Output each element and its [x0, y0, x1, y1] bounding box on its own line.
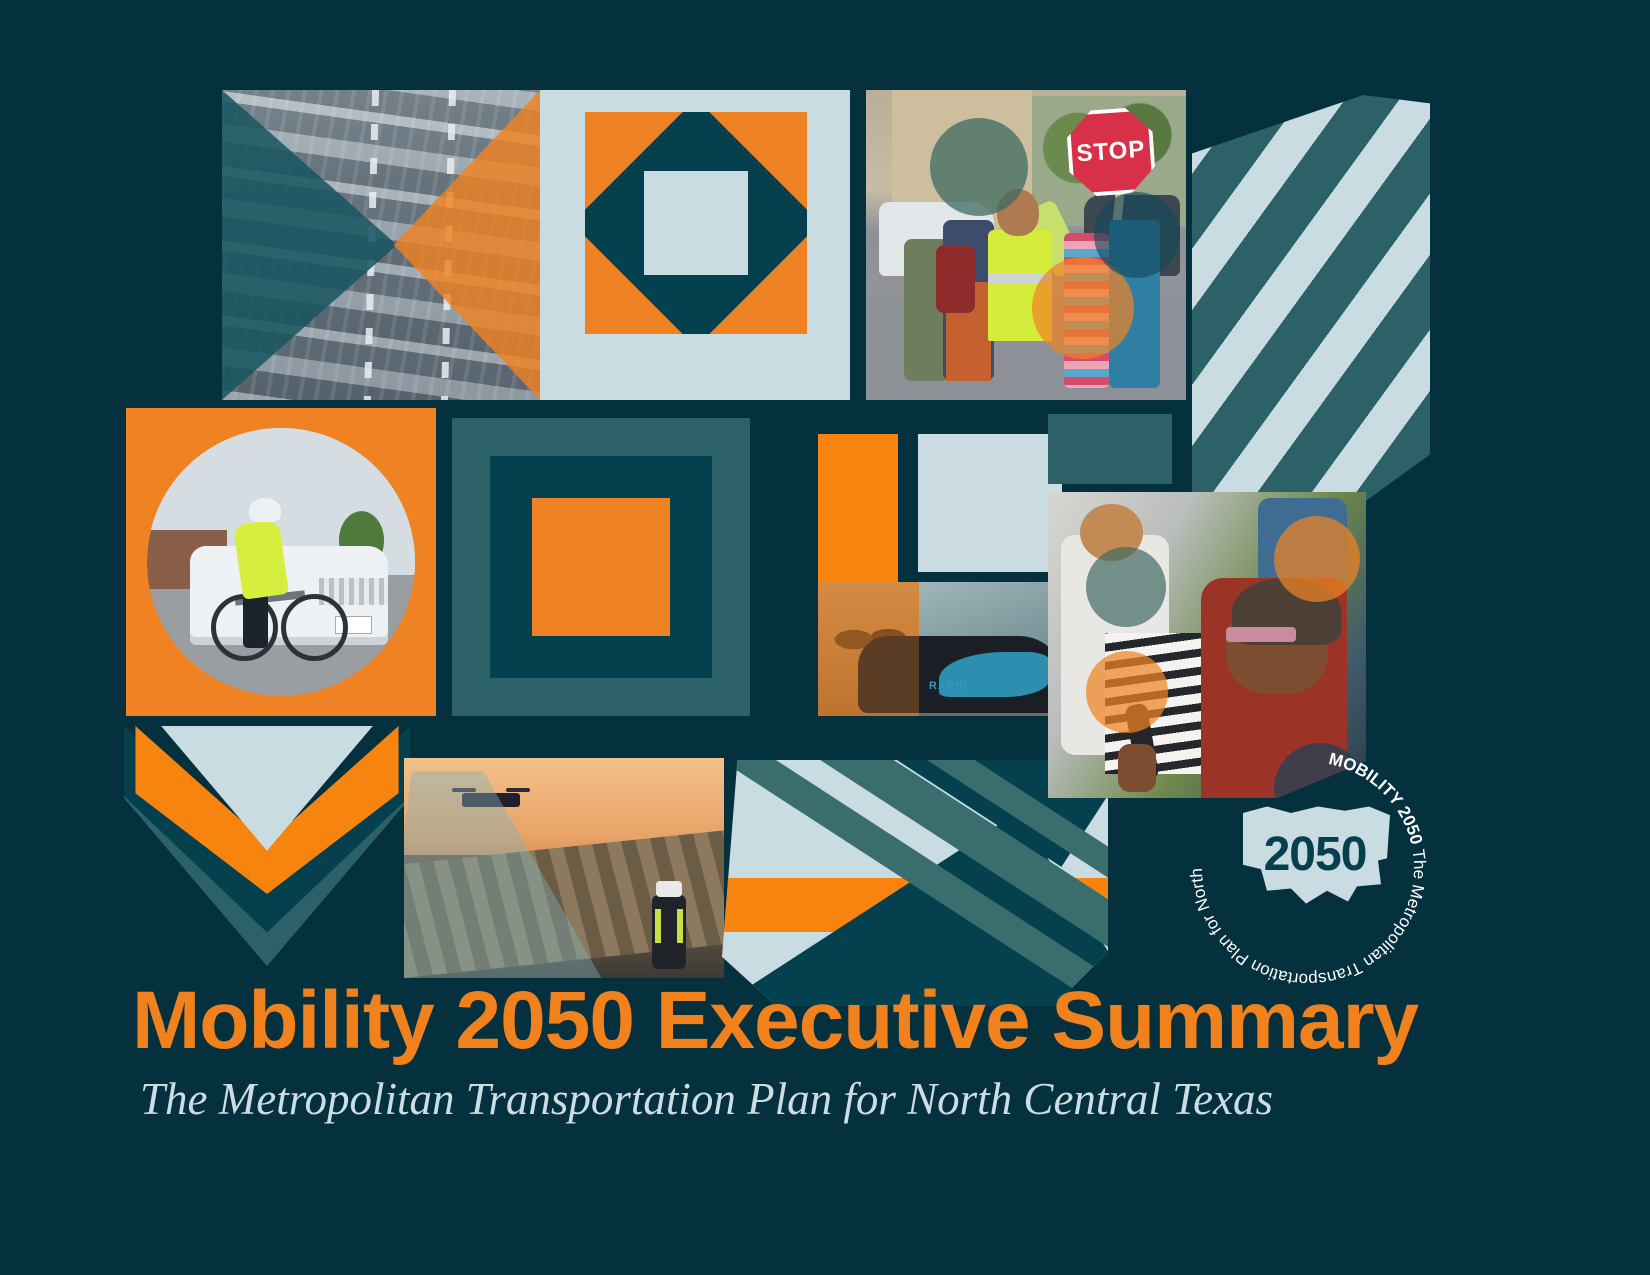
document-cover: STOP — [0, 0, 1650, 1275]
teal-circle-overlay — [930, 118, 1028, 216]
speaker-hand — [1118, 744, 1156, 792]
light-blue-center-square — [644, 171, 748, 275]
autonomous-vehicle-photo: RAPID — [818, 582, 1062, 716]
page-subtitle: The Metropolitan Transportation Plan for… — [140, 1075, 1460, 1125]
nested-squares-graphic — [452, 418, 750, 716]
diagonal-stripes — [1192, 95, 1430, 513]
dark-circle-overlay — [1094, 192, 1180, 278]
page-title: Mobility 2050 Executive Summary — [132, 980, 1432, 1062]
teal-accent-square — [1048, 414, 1172, 484]
circular-photo-crop — [147, 428, 415, 696]
bicyclist-photo — [126, 408, 436, 716]
orange-circle-overlay — [1086, 651, 1168, 733]
chevron-graphic — [124, 726, 410, 966]
orange-tint-overlay — [818, 582, 919, 716]
teal-circle-overlay — [1086, 547, 1166, 627]
medallion-graphic — [540, 90, 850, 400]
diagonal-stripe-panel — [1192, 95, 1430, 513]
orange-bar — [818, 434, 898, 582]
mobility-2050-logo-badge: MOBILITY 2050 The Metropolitan Transport… — [1182, 742, 1434, 994]
orange-square — [532, 498, 670, 636]
eyeglasses — [1226, 627, 1296, 642]
backpack — [936, 245, 974, 313]
drone-solar-photo — [404, 758, 724, 978]
bicycle-helmet — [249, 498, 281, 522]
bicycle-wheel — [281, 594, 348, 661]
school-crossing-guard-photo: STOP — [866, 90, 1186, 400]
light-blue-square — [918, 434, 1062, 572]
autonomous-vehicle-cluster: RAPID — [766, 420, 1062, 716]
traffic-congestion-photo — [222, 90, 540, 400]
orange-circle-overlay — [1274, 516, 1360, 602]
badge-year-label: 2050 — [1240, 800, 1390, 908]
rapid-label: RAPID — [929, 680, 968, 692]
worker-with-vr-headset — [652, 895, 686, 969]
